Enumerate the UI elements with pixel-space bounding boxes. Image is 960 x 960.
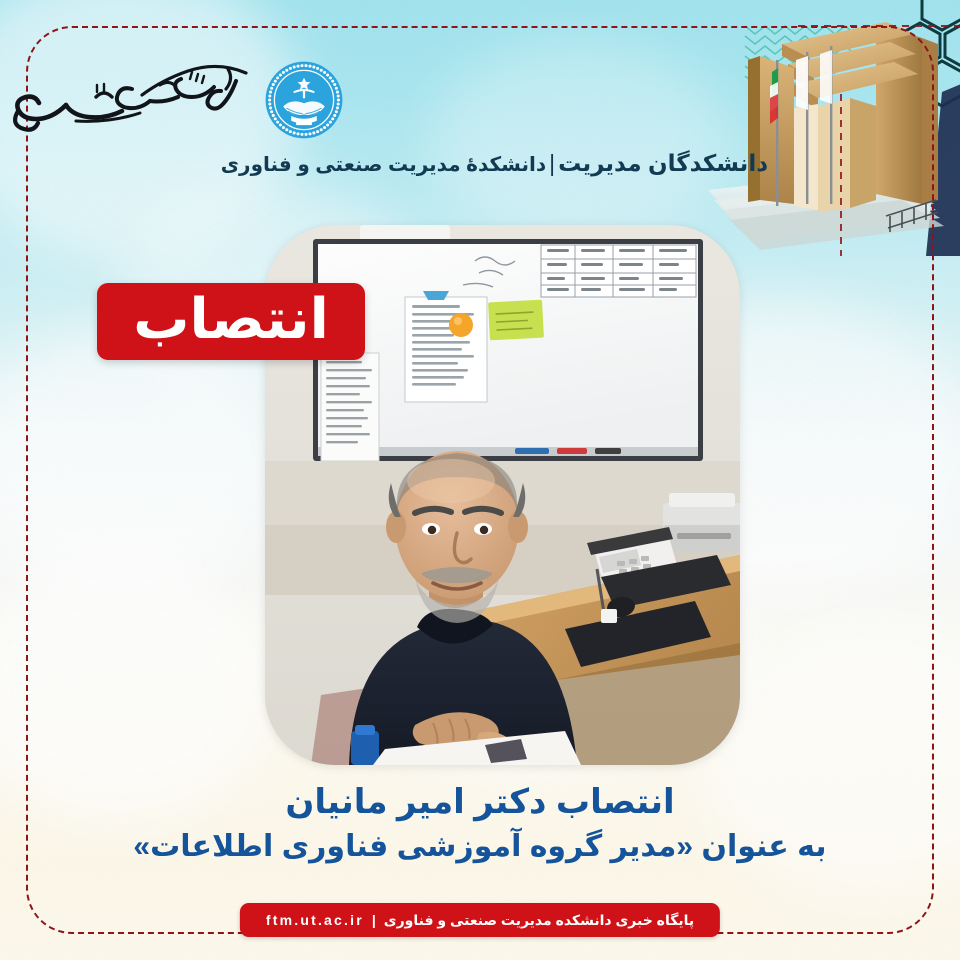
announcement-title: انتصاب دکتر امیر مانیان به عنوان «مدیر گ…: [0, 782, 960, 866]
title-line-2: به عنوان «مدیر گروه آموزشی فناوری اطلاعا…: [0, 827, 960, 866]
watercolor-blot: [0, 560, 270, 820]
watercolor-blot: [0, 330, 280, 590]
printer: [663, 493, 740, 551]
status-badge: انتصاب: [97, 283, 365, 360]
footer-url[interactable]: ftm.ut.ac.ir: [266, 912, 364, 928]
footer-separator: |: [372, 912, 376, 928]
faculty-title-line: دانشکدگان مدیریت|دانشکدهٔ مدیریت صنعتی و…: [0, 150, 768, 177]
status-badge-label: انتصاب: [133, 291, 329, 353]
faculty-sub: دانشکدهٔ مدیریت صنعتی و فناوری: [221, 154, 546, 176]
footer-site-name: پایگاه خبری دانشکده مدیریت صنعتی و فناور…: [384, 912, 694, 929]
university-wordmark-calligraphy: [0, 61, 250, 139]
brand-row: [0, 60, 790, 140]
faculty-main: دانشکدگان مدیریت: [558, 150, 768, 176]
title-line-1: انتصاب دکتر امیر مانیان: [0, 782, 960, 823]
footer-bar[interactable]: پایگاه خبری دانشکده مدیریت صنعتی و فناور…: [240, 903, 720, 937]
faculty-separator: |: [546, 150, 558, 176]
poster-canvas: دانشکدگان مدیریت|دانشکدهٔ مدیریت صنعتی و…: [0, 0, 960, 960]
university-seal-icon: [264, 60, 344, 140]
header: دانشکدگان مدیریت|دانشکدهٔ مدیریت صنعتی و…: [0, 60, 790, 177]
